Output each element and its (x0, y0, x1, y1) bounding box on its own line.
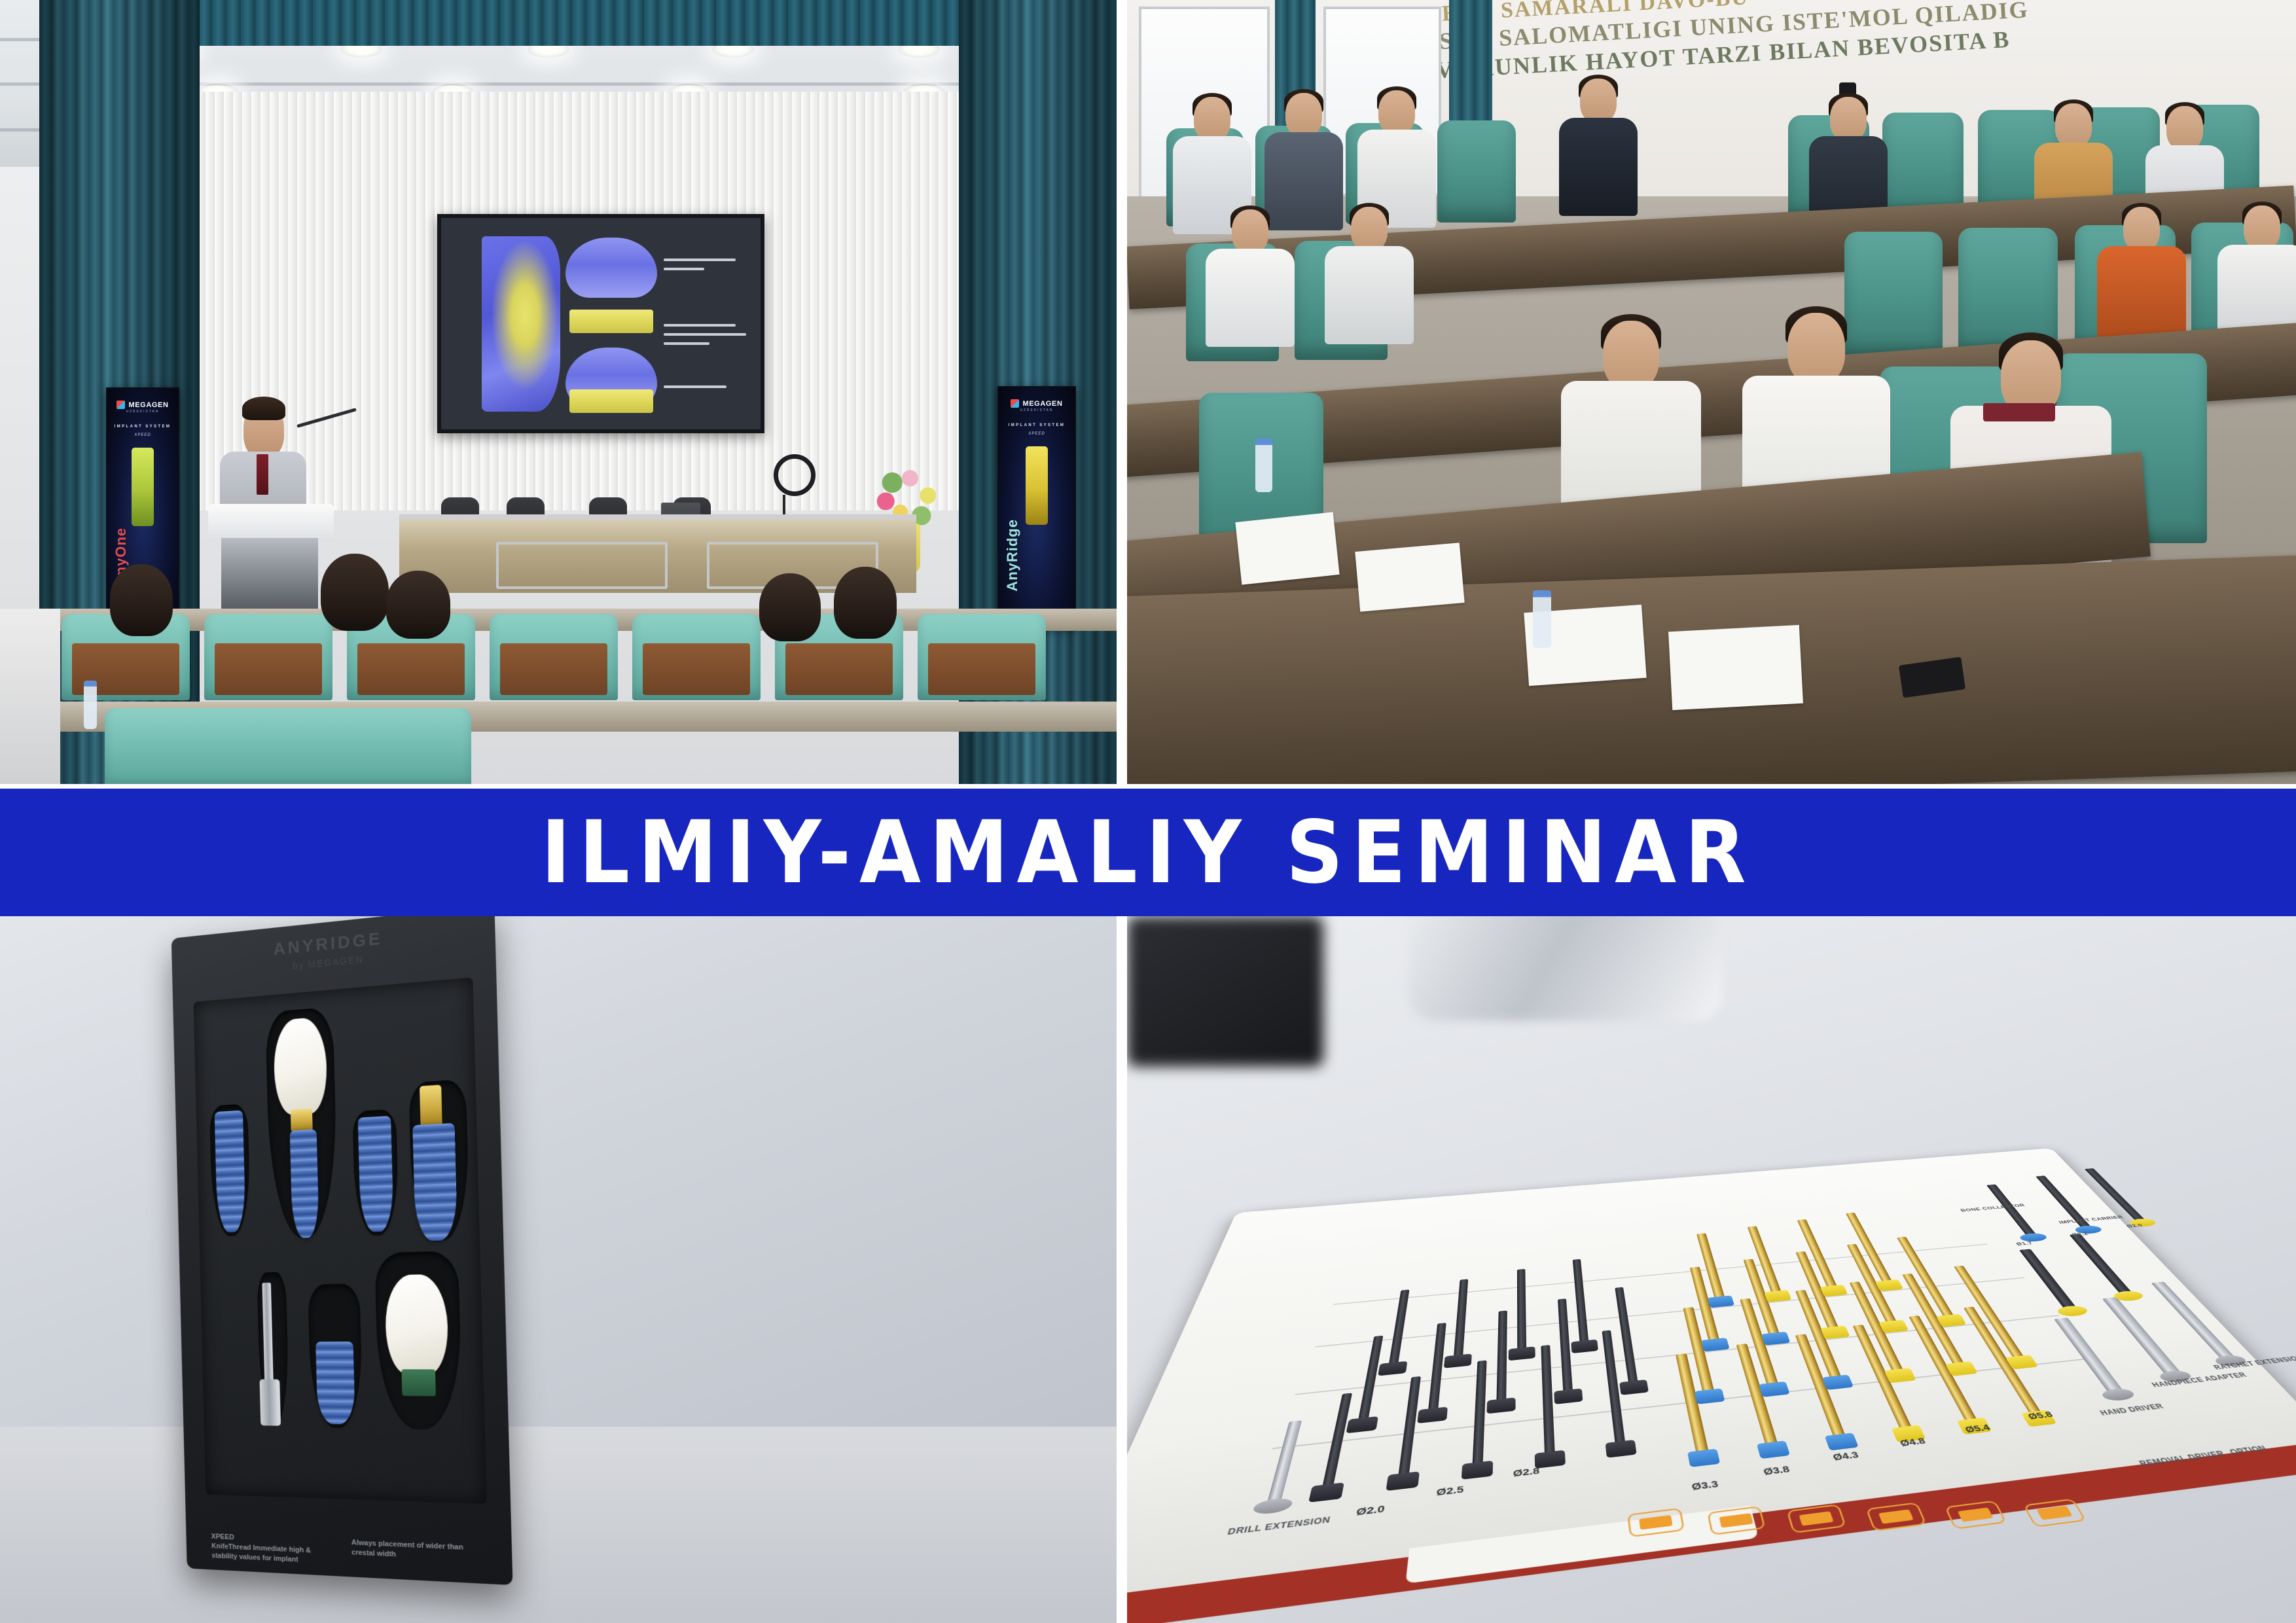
gold-abutment (291, 1109, 313, 1132)
attendee-head (759, 573, 821, 641)
attendee-head (2244, 205, 2280, 250)
implant-display-case: ANYRIDGE by MEGAGEN (171, 916, 513, 1585)
attendee-head (1603, 321, 1659, 390)
rollup-left-system: IMPLANT SYSTEM (115, 425, 171, 429)
seminar-photo-collage: MEGAGEN UZBEKISTAN IMPLANT SYSTEM XPEED … (0, 0, 2296, 1623)
gold-abutment (420, 1085, 442, 1128)
ct-scan-occlusal-band (569, 310, 653, 333)
rollup-right-product: AnyRidge (1004, 519, 1021, 592)
auditorium-seat (632, 614, 761, 700)
foam-insert (193, 977, 486, 1504)
case-note-1: KnifeThread Immediate high & stability v… (211, 1542, 334, 1567)
auditorium-seat-foreground (105, 708, 471, 789)
auditorium-seat (1882, 113, 1964, 217)
attendee-head (1787, 313, 1845, 385)
auditorium-seat (490, 614, 618, 700)
handout-paper (1235, 512, 1339, 584)
ring-light (774, 454, 816, 496)
attendee-head (1830, 97, 1867, 141)
green-abutment (401, 1369, 436, 1396)
attendee-photographer (1559, 79, 1638, 229)
attendee-head (1351, 207, 1388, 251)
rollup-banner-anyridge: MEGAGEN UZBEKISTAN IMPLANT SYSTEM XPEED … (997, 386, 1076, 628)
case-tech-mark: XPEED (211, 1533, 234, 1542)
water-bottle (1533, 590, 1551, 648)
blurred-instrument (1408, 916, 1723, 1021)
auditorium-seat (1437, 120, 1516, 223)
handout-paper (1355, 543, 1464, 612)
attendee-head (321, 554, 389, 631)
rollup-right-tech: XPEED (1028, 432, 1045, 436)
attendee-head (1378, 90, 1415, 135)
implant-fixture (358, 1116, 394, 1232)
megagen-logo: MEGAGEN (117, 401, 168, 409)
water-bottle (1255, 438, 1272, 492)
attendee-torso (1559, 118, 1638, 216)
megagen-logo-mark (1011, 399, 1019, 408)
attendee-head (1580, 79, 1617, 123)
attendee-head (2166, 106, 2203, 151)
wide-implant-fixture (412, 1123, 457, 1241)
attendee-shoulder (0, 609, 60, 789)
attendee (1204, 209, 1296, 373)
attendee-torso (1325, 246, 1414, 344)
attendee-head (1194, 97, 1230, 141)
rollup-right-brand: MEGAGEN (1022, 400, 1062, 408)
speaker-tie (257, 454, 268, 495)
blurred-foreground-object (1127, 916, 1323, 1067)
drill-bit-dark (1508, 1272, 1536, 1361)
photo-auditorium-audience: ENG SAMARALI DAVO-BU INSON SALOMATLIGI U… (1127, 0, 2296, 789)
rollup-left-brand: MEGAGEN (128, 401, 168, 409)
stage-valance (39, 0, 1117, 46)
attendee-torso (1206, 249, 1295, 347)
polo-collar (1983, 403, 2055, 421)
rollup-left-country: UZBEKISTAN (126, 410, 159, 414)
rollup-left-tech: XPEED (134, 433, 151, 437)
attendee-head (2055, 103, 2092, 148)
auditorium-seat (204, 614, 332, 700)
case-note-2: Always placement of wider than crestal w… (351, 1539, 484, 1564)
screwdriver-handle (260, 1380, 281, 1426)
attendee-head (110, 564, 173, 636)
attendee-head (1285, 93, 1322, 137)
photo-surgical-drill-kit: DRILL EXTENSION Ø2.0 Ø2.5 Ø2.8 Ø3.3 Ø3.8… (1127, 916, 2296, 1623)
implant-product-image (132, 448, 154, 526)
case-printed-notes: XPEED KnifeThread Immediate high & stabi… (186, 1531, 512, 1576)
attendee-head (834, 567, 897, 639)
megagen-logo: MEGAGEN (1011, 399, 1062, 408)
ct-scan-lower-band (569, 389, 653, 413)
water-bottle (84, 681, 97, 729)
attendee-head (2123, 207, 2160, 251)
attendee-head (1232, 209, 1268, 254)
speaker-hair (242, 397, 285, 420)
seminar-title: ILMIY-AMALIY SEMINAR (541, 810, 1755, 896)
attendee-head (386, 571, 450, 639)
rollup-right-country: UZBEKISTAN (1020, 408, 1053, 412)
attendee-torso (2097, 246, 2186, 344)
photo-implant-display-case: ANYRIDGE by MEGAGEN (0, 916, 1117, 1623)
handout-paper (1668, 625, 1803, 710)
implant-fixture (290, 1130, 319, 1238)
implant-fixture (215, 1111, 246, 1233)
title-banner: ILMIY-AMALIY SEMINAR (0, 789, 2296, 916)
rollup-right-system: IMPLANT SYSTEM (1009, 423, 1066, 427)
ct-scan-upper-arch (565, 238, 657, 298)
megagen-logo-mark (117, 401, 125, 409)
ct-scan-lateral-view (482, 236, 560, 412)
implant-product-image (1026, 446, 1048, 525)
podium-top (208, 504, 334, 541)
table-surface (0, 1427, 1117, 1623)
projection-screen (437, 214, 764, 433)
photo-conference-hall-speaker: MEGAGEN UZBEKISTAN IMPLANT SYSTEM XPEED … (0, 0, 1117, 789)
attendee (1323, 207, 1415, 370)
auditorium-seat (918, 614, 1046, 700)
implant-fixture (315, 1342, 355, 1425)
